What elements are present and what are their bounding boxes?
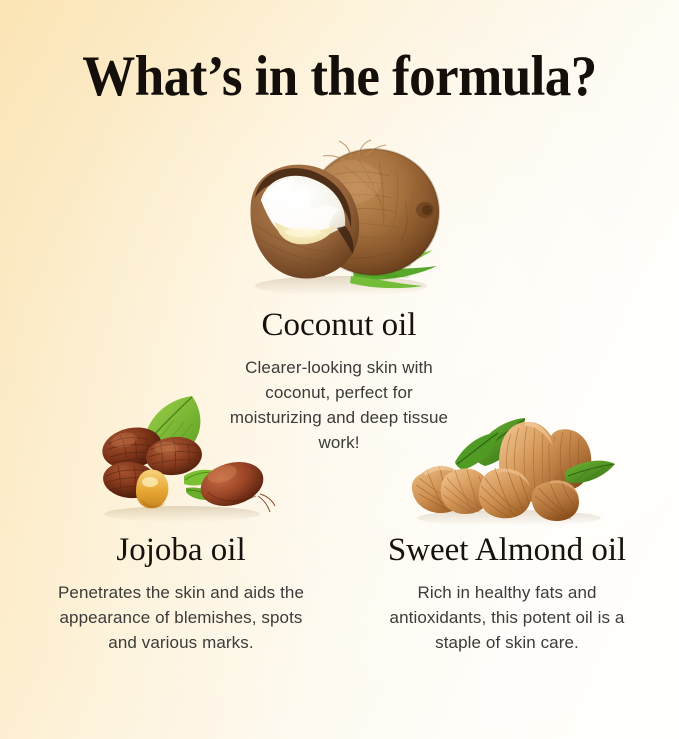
ingredient-name-coconut: Coconut oil: [179, 307, 499, 343]
jojoba-oil: [136, 470, 168, 509]
almond: [479, 468, 531, 518]
jojoba-seed-smooth: [195, 455, 275, 513]
ingredient-name-almond: Sweet Almond oil: [347, 532, 667, 568]
jojoba-seeds-illustration: [86, 392, 276, 524]
coconut-illustration: [233, 140, 445, 300]
almonds-illustration: [399, 400, 615, 526]
ingredient-name-jojoba: Jojoba oil: [21, 532, 341, 568]
ingredient-description-almond: Rich in healthy fats and antioxidants, t…: [347, 580, 667, 655]
ingredient-card-jojoba: Jojoba oil Penetrates the skin and aids …: [21, 392, 341, 655]
formula-infographic: What’s in the formula?: [0, 0, 679, 739]
ingredient-description-jojoba: Penetrates the skin and aids the appeara…: [21, 580, 341, 655]
ingredient-card-almond: Sweet Almond oil Rich in healthy fats an…: [347, 400, 667, 655]
page-title: What’s in the formula?: [24, 47, 655, 107]
